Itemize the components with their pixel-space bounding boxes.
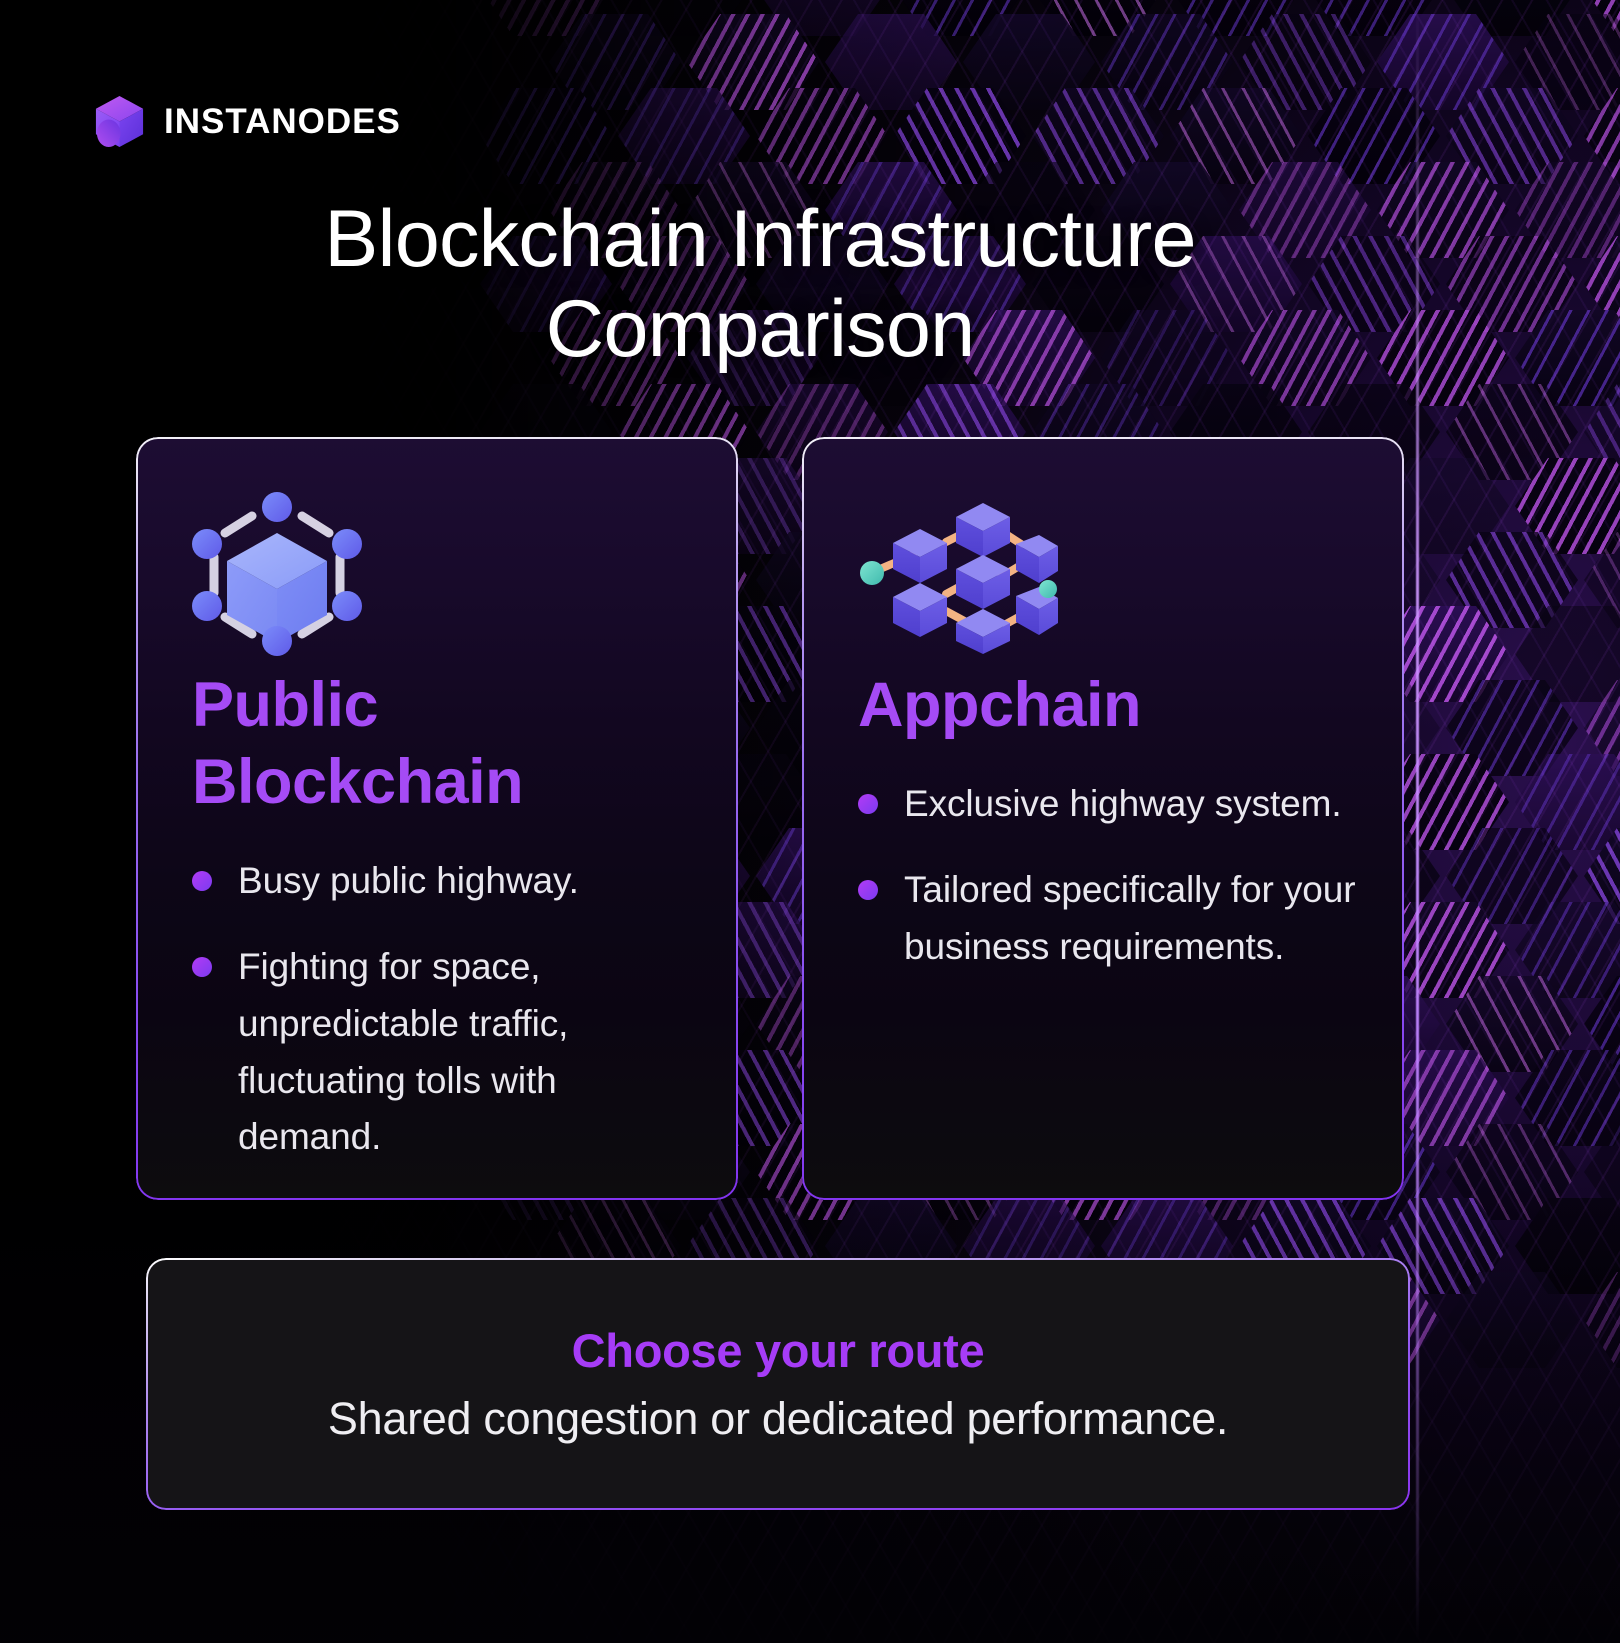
list-item: Tailored specifically for your business …	[858, 862, 1356, 975]
bullet-dot-icon	[858, 880, 878, 900]
cta-banner[interactable]: Choose your route Shared congestion or d…	[146, 1258, 1410, 1510]
list-item: Fighting for space, unpredictable traffi…	[192, 939, 690, 1165]
card-heading: Public Blockchain	[192, 667, 622, 821]
card-bullet-list: Busy public highway. Fighting for space,…	[192, 853, 690, 1166]
bullet-text: Exclusive highway system.	[904, 776, 1342, 833]
bullet-text: Busy public highway.	[238, 853, 579, 910]
poster-content: INSTANODES Blockchain Infrastructure Com…	[0, 0, 1620, 1643]
teal-node-icon	[860, 561, 884, 585]
cta-banner-subtitle: Shared congestion or dedicated performan…	[328, 1396, 1228, 1441]
page-title-line-2: Comparison	[110, 285, 1410, 375]
bullet-text: Tailored specifically for your business …	[904, 862, 1356, 975]
poster-root: INSTANODES Blockchain Infrastructure Com…	[0, 0, 1620, 1643]
list-item: Busy public highway.	[192, 853, 690, 910]
bullet-dot-icon	[192, 871, 212, 891]
cube-logo-icon	[92, 93, 147, 150]
bullet-text: Fighting for space, unpredictable traffi…	[238, 939, 690, 1165]
page-title-line-1: Blockchain Infrastructure	[110, 195, 1410, 285]
bullet-dot-icon	[192, 957, 212, 977]
card-public-blockchain[interactable]: Public Blockchain Busy public highway. F…	[136, 437, 738, 1200]
brand-name: INSTANODES	[164, 104, 401, 139]
page-title: Blockchain Infrastructure Comparison	[110, 195, 1410, 375]
cta-banner-title: Choose your route	[572, 1327, 985, 1374]
brand-logo: INSTANODES	[92, 93, 401, 150]
teal-node-icon	[1039, 580, 1057, 598]
comparison-cards: Public Blockchain Busy public highway. F…	[136, 437, 1404, 1200]
bullet-dot-icon	[858, 794, 878, 814]
card-bullet-list: Exclusive highway system. Tailored speci…	[858, 776, 1356, 976]
card-heading: Appchain	[858, 667, 1356, 744]
hexagon-cube-network-icon	[192, 489, 690, 661]
card-appchain[interactable]: Appchain Exclusive highway system. Tailo…	[802, 437, 1404, 1200]
list-item: Exclusive highway system.	[858, 776, 1356, 833]
appchain-cube-cluster-icon	[858, 489, 1356, 661]
